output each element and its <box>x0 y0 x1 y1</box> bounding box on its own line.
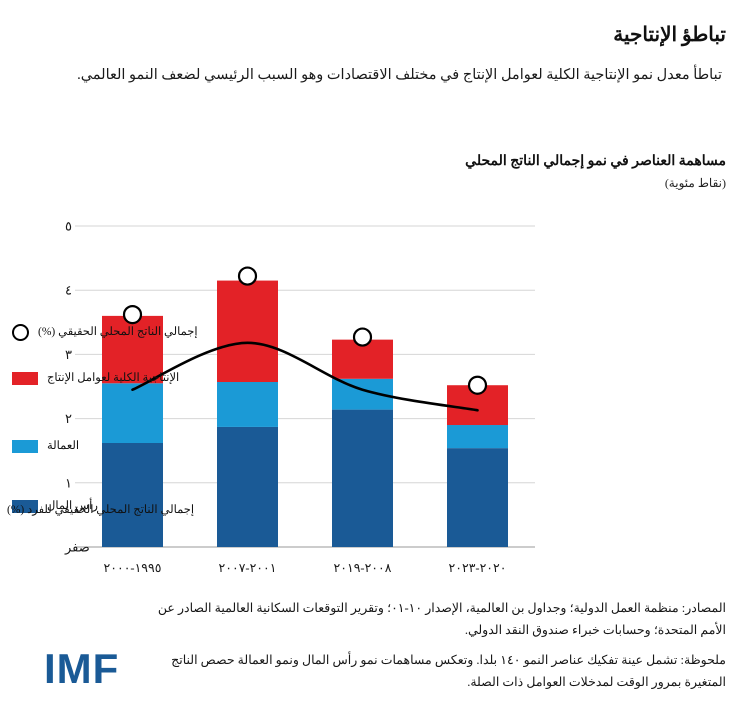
y-axis-tick-label: صفر <box>64 540 90 556</box>
bar-segment <box>332 410 393 547</box>
header: تباطؤ الإنتاجية تباطأ معدل نمو الإنتاجية… <box>24 22 726 89</box>
real-gdp-marker <box>354 329 371 346</box>
real-gdp-marker <box>469 377 486 394</box>
chart-legend: إجمالي الناتج المحلي الحقيقي (%) الإنتاج… <box>12 322 250 516</box>
chart-caption-main: مساهمة العناصر في نمو إجمالي الناتج المح… <box>24 152 726 172</box>
x-axis-tick-label: ٢٠٢٠-٢٠٢٣ <box>449 561 507 575</box>
note-sources: المصادر: منظمة العمل الدولية؛ وجداول بن … <box>146 598 726 642</box>
legend-label-real-gdp: إجمالي الناتج المحلي الحقيقي (%) <box>38 325 198 340</box>
real-gdp-marker <box>124 306 141 323</box>
x-axis-tick-label: ١٩٩٥-٢٠٠٠ <box>104 561 162 575</box>
footnotes: المصادر: منظمة العمل الدولية؛ وجداول بن … <box>146 598 726 702</box>
note-methodology: ملحوظة: تشمل عينة تفكيك عناصر النمو ١٤٠ … <box>146 650 726 694</box>
y-axis-tick-label: ٥ <box>65 219 72 234</box>
circle-outline-icon <box>12 324 29 341</box>
swatch-red-icon <box>12 372 38 385</box>
legend-item-labor[interactable]: العمالة <box>12 436 250 456</box>
legend-item-real-gdp[interactable]: إجمالي الناتج المحلي الحقيقي (%) <box>12 322 250 342</box>
page-title: تباطؤ الإنتاجية <box>24 22 726 48</box>
real-gdp-marker <box>239 268 256 285</box>
x-axis-tick-label: ٢٠٠٨-٢٠١٩ <box>334 561 392 575</box>
chart-caption: مساهمة العناصر في نمو إجمالي الناتج المح… <box>24 152 726 192</box>
bar-segment <box>447 425 508 448</box>
swatch-lightblue-icon <box>12 440 38 453</box>
page-subtitle: تباطأ معدل نمو الإنتاجية الكلية لعوامل ا… <box>24 62 726 89</box>
legend-label-tfp: الإنتاجية الكلية لعوامل الإنتاج <box>47 371 179 386</box>
x-axis-tick-label: ٢٠٠١-٢٠٠٧ <box>219 561 277 575</box>
legend-item-tfp[interactable]: الإنتاجية الكلية لعوامل الإنتاج <box>12 368 250 388</box>
legend-item-gdp-per-capita[interactable]: إجمالي الناتج المحلي الحقيقي للفرد (%) <box>0 500 228 520</box>
imf-logo: IMF <box>44 645 119 693</box>
legend-label-gdp-per-capita: إجمالي الناتج المحلي الحقيقي للفرد (%) <box>7 503 194 518</box>
bar-segment <box>447 448 508 547</box>
chart-caption-units: (نقاط مئوية) <box>24 174 726 192</box>
y-axis-tick-label: ٤ <box>65 283 72 298</box>
legend-label-labor: العمالة <box>47 439 79 454</box>
